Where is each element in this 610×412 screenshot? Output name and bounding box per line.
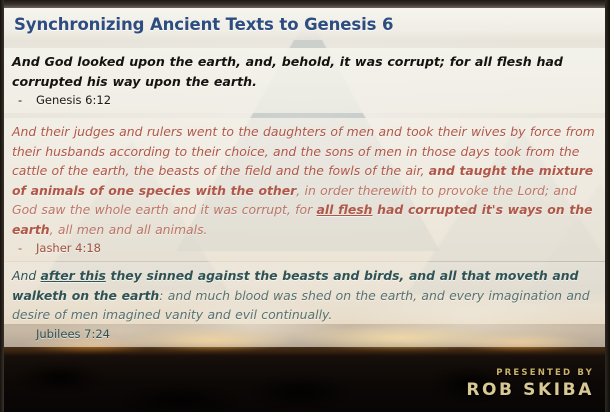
quote-span: , all men and all animals. [50,222,208,237]
citation-jubilees: Jubilees 7:24 [12,326,597,347]
frame-left-edge [0,0,4,412]
citation-bullet: - [18,240,36,257]
quote-text-jasher: And their judges and rulers went to the … [12,118,597,240]
watermark-presenter-name: ROB SKIBA [466,380,594,400]
citation-label: Jubilees 7:24 [36,327,110,341]
slide-title: Synchronizing Ancient Texts to Genesis 6 [4,15,393,34]
citation-genesis: -Genesis 6:12 [12,92,597,113]
quote-span: And God looked upon the earth, and, beho… [12,54,450,69]
quote-block-jasher: And their judges and rulers went to the … [4,118,605,261]
watermark-presented-by: PRESENTED BY [466,368,594,378]
citation-jasher: -Jasher 4:18 [12,240,597,261]
citation-label: Genesis 6:12 [36,93,111,107]
quote-span-underline: after this [41,268,106,283]
slide-title-bar: Synchronizing Ancient Texts to Genesis 6 [4,8,605,40]
quote-span: And [12,268,41,283]
frame-top-edge [0,0,610,8]
quote-span-underline: all flesh [317,202,373,217]
quote-text-genesis: And God looked upon the earth, and, beho… [12,48,597,92]
presentation-slide: Synchronizing Ancient Texts to Genesis 6… [0,0,610,412]
frame-right-edge [605,0,610,412]
quote-text-jubilees: And after this they sinned against the b… [12,262,597,326]
quote-block-genesis: And God looked upon the earth, and, beho… [4,48,605,113]
citation-bullet: - [18,92,36,109]
presenter-watermark: PRESENTED BY ROB SKIBA [466,368,594,400]
citation-label: Jasher 4:18 [36,241,101,255]
quote-block-jubilees: And after this they sinned against the b… [4,262,605,347]
